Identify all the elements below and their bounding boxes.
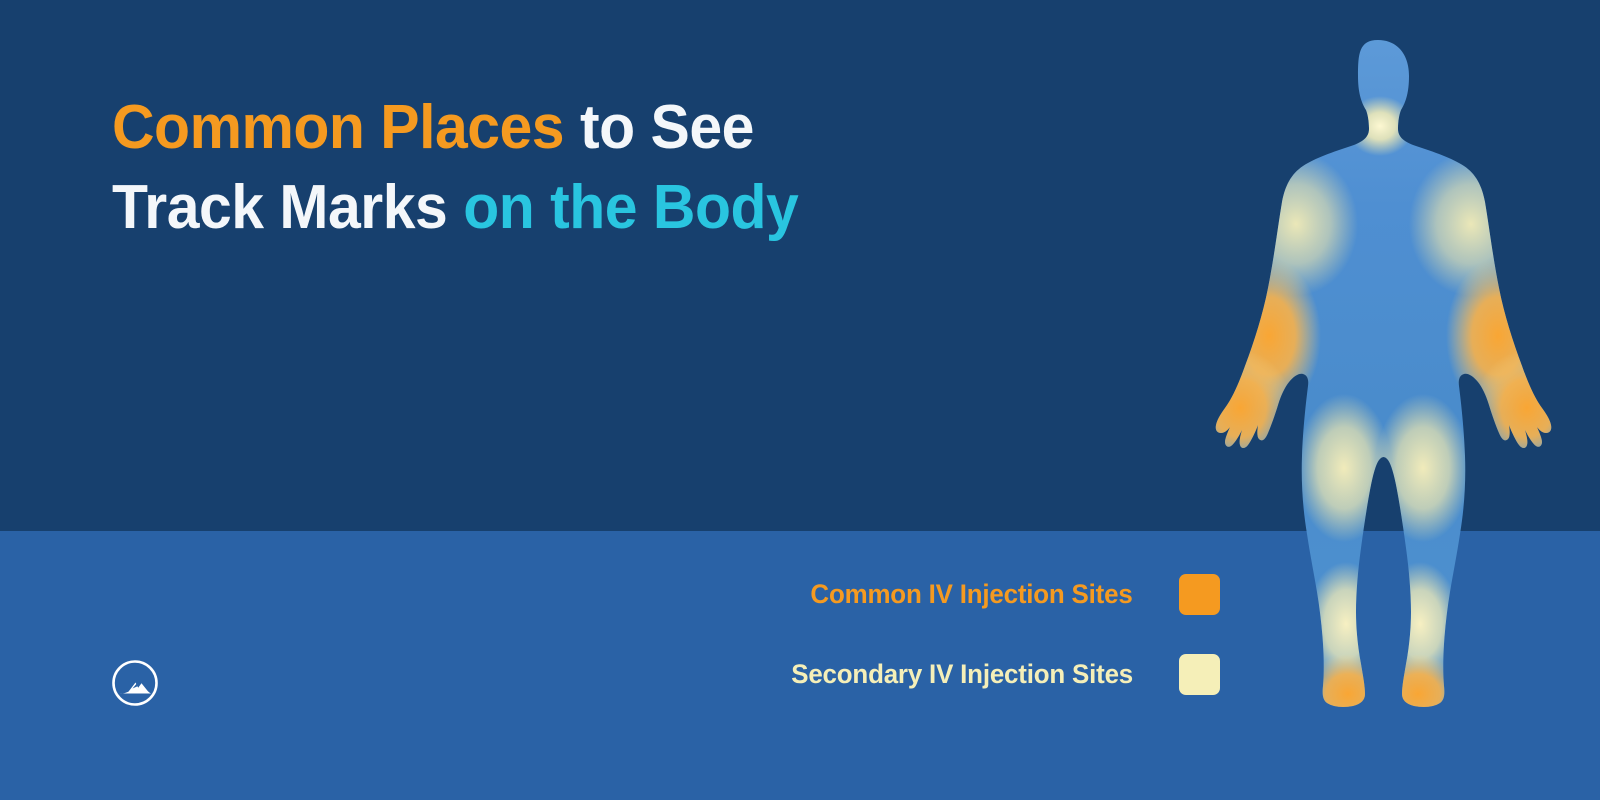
legend-label-secondary: Secondary IV Injection Sites	[791, 659, 1133, 690]
logo-circle-outline	[114, 662, 157, 705]
hotzone-neck	[1346, 96, 1414, 156]
human-body-heatmap	[1168, 36, 1588, 718]
body-silhouette	[1168, 36, 1588, 718]
hotzone-foot-left	[1304, 654, 1392, 718]
legend-item-common: Common IV Injection Sites	[560, 566, 1220, 622]
headline-segment-orange: Common Places	[112, 93, 564, 162]
legend-label-common: Common IV Injection Sites	[811, 579, 1133, 610]
headline-segment-white-2: Track Marks	[112, 173, 447, 242]
legend-item-secondary: Secondary IV Injection Sites	[560, 646, 1220, 702]
headline-segment-white-1: to See	[564, 93, 754, 162]
page-title: Common Places to See Track Marks on the …	[112, 88, 1024, 248]
hotzone-thigh-left	[1296, 394, 1392, 542]
headline-segment-cyan: on the Body	[447, 173, 798, 242]
infographic-canvas: Common Places to See Track Marks on the …	[0, 0, 1600, 800]
headline-line-2: Track Marks on the Body	[112, 168, 1024, 248]
legend: Common IV Injection Sites Secondary IV I…	[560, 566, 1220, 726]
headline-line-1: Common Places to See	[112, 88, 1024, 168]
hotzone-hand-left	[1188, 350, 1292, 466]
logo-mountain-glyph	[120, 683, 152, 694]
hotzone-hand-right	[1475, 350, 1579, 466]
mountain-circle-logo[interactable]	[110, 658, 160, 708]
hotzone-thigh-right	[1375, 394, 1471, 542]
hotzone-foot-right	[1374, 654, 1462, 718]
